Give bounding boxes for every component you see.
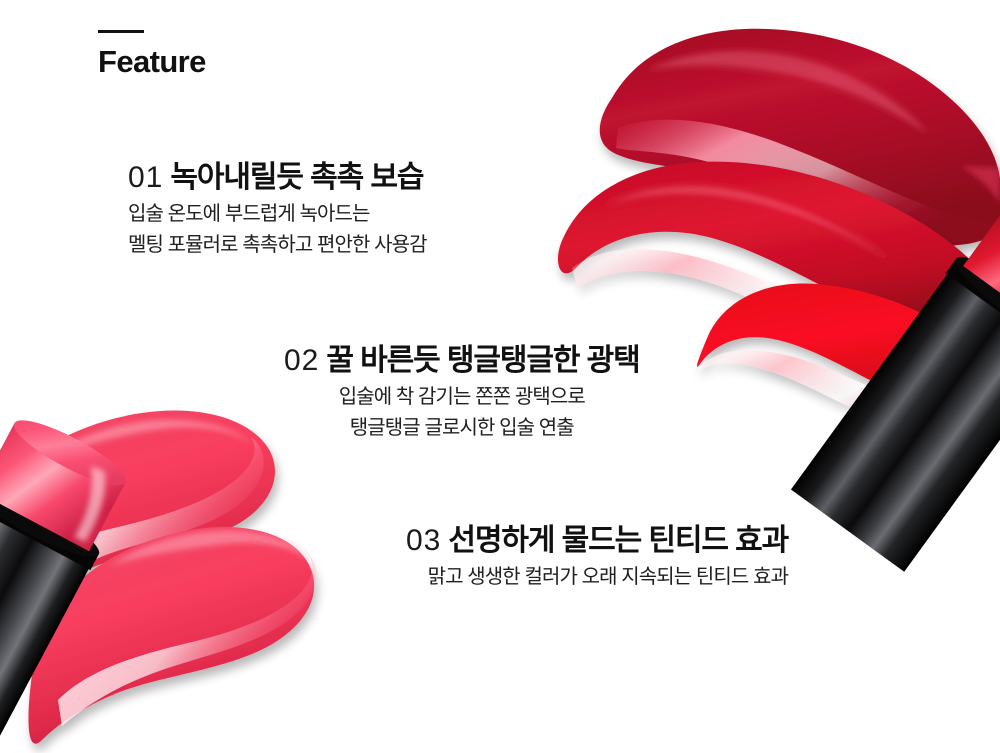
feature-block-01: 01녹아내릴듯 촉촉 보습 입술 온도에 부드럽게 녹아드는 멜팅 포뮬러로 촉… <box>128 160 427 261</box>
lipstick-tube-pink <box>0 405 142 753</box>
swatch-group-top-right <box>558 29 1000 573</box>
feature-number: 01 <box>128 161 163 194</box>
feature-page: Feature 01녹아내릴듯 촉촉 보습 입술 온도에 부드럽게 녹아드는 멜… <box>0 0 1000 753</box>
feature-description-line: 탱글탱글 글로시한 입술 연출 <box>284 413 640 444</box>
page-header: Feature <box>98 30 206 77</box>
feature-description: 입술에 착 감기는 쫀쫀 광택으로 탱글탱글 글로시한 입술 연출 <box>284 382 640 444</box>
feature-title: 선명하게 물드는 틴티드 효과 <box>448 524 788 557</box>
feature-description-line: 입술에 착 감기는 쫀쫀 광택으로 <box>284 382 640 413</box>
feature-title: 녹아내릴듯 촉촉 보습 <box>170 161 423 194</box>
page-title: Feature <box>98 46 206 77</box>
feature-description: 맑고 생생한 컬러가 오래 지속되는 틴티드 효과 <box>406 562 788 593</box>
feature-title: 꿀 바른듯 탱글탱글한 광택 <box>326 344 639 377</box>
feature-block-03: 03선명하게 물드는 틴티드 효과 맑고 생생한 컬러가 오래 지속되는 틴티드… <box>406 523 788 593</box>
swatch-group-bottom-left <box>0 405 317 753</box>
feature-number: 03 <box>406 524 441 557</box>
feature-number: 02 <box>284 344 319 377</box>
feature-description: 입술 온도에 부드럽게 녹아드는 멜팅 포뮬러로 촉촉하고 편안한 사용감 <box>128 199 427 261</box>
lipstick-tube-red <box>789 185 1000 573</box>
feature-heading: 01녹아내릴듯 촉촉 보습 <box>128 160 427 195</box>
feature-block-02: 02꿀 바른듯 탱글탱글한 광택 입술에 착 감기는 쫀쫀 광택으로 탱글탱글 … <box>284 343 640 444</box>
feature-heading: 03선명하게 물드는 틴티드 효과 <box>406 523 788 558</box>
feature-description-line: 맑고 생생한 컬러가 오래 지속되는 틴티드 효과 <box>406 562 788 593</box>
header-rule <box>98 30 144 33</box>
feature-heading: 02꿀 바른듯 탱글탱글한 광택 <box>284 343 640 378</box>
feature-description-line: 멜팅 포뮬러로 촉촉하고 편안한 사용감 <box>128 230 427 261</box>
feature-description-line: 입술 온도에 부드럽게 녹아드는 <box>128 199 427 230</box>
